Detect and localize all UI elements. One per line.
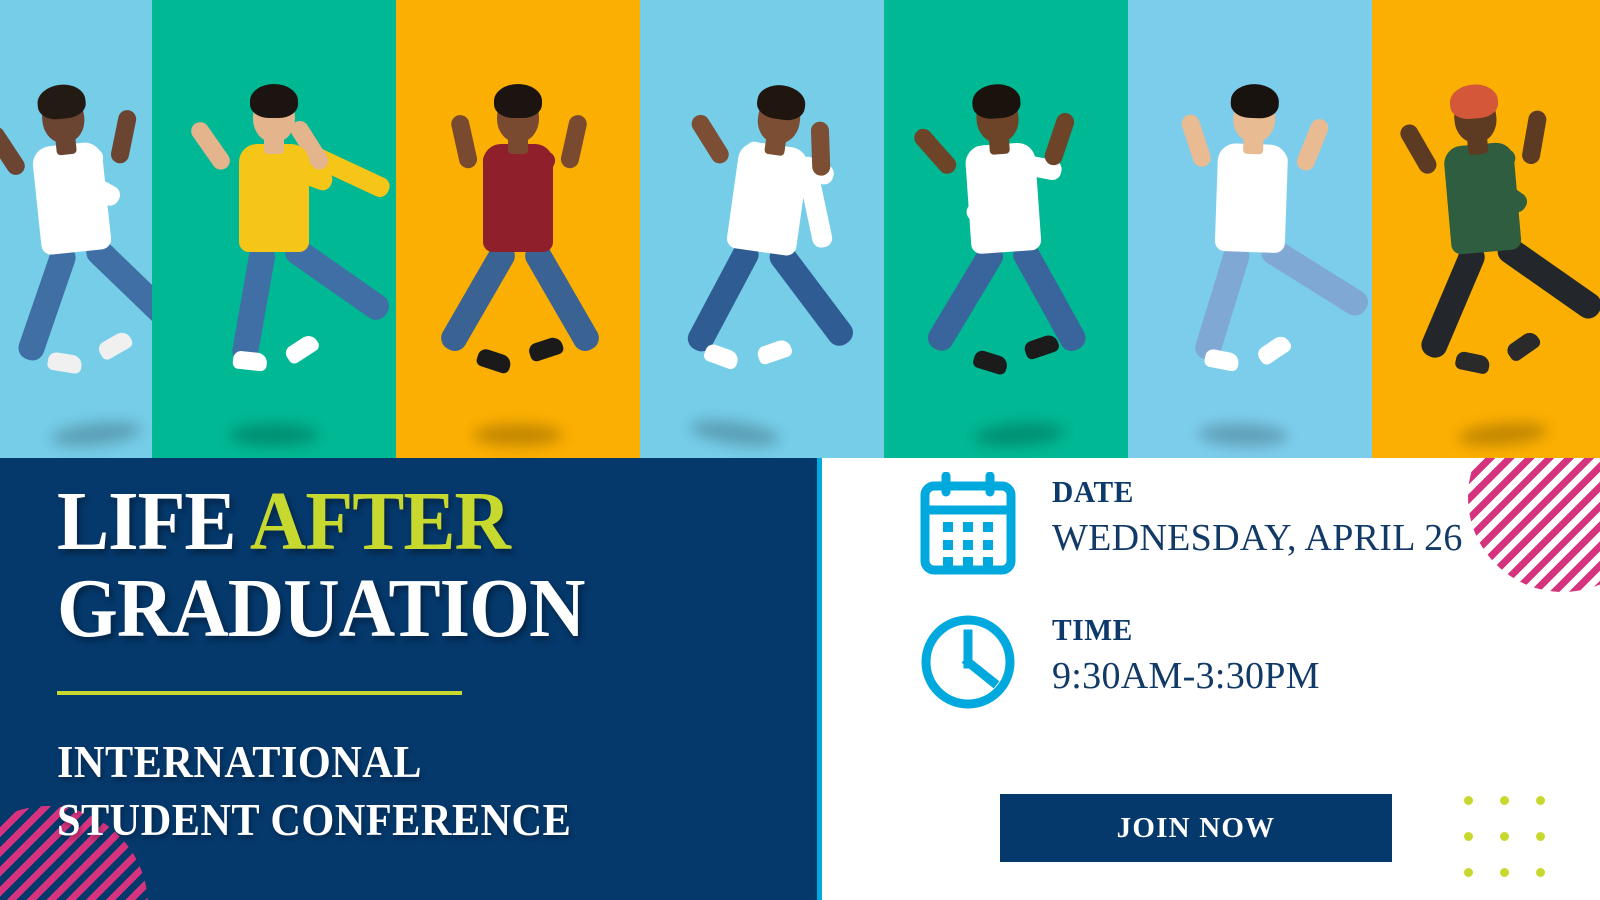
- photo-panel-1: [0, 0, 152, 458]
- headline-panel: LIFE AFTER GRADUATION INTERNATIONAL STUD…: [0, 458, 817, 900]
- decor-dot: [1536, 868, 1545, 877]
- photo-panel-5: [884, 0, 1128, 458]
- date-label: DATE: [1052, 476, 1442, 507]
- striped-circle-decor-top-right: [1468, 458, 1600, 592]
- headline-word-life: LIFE: [57, 475, 236, 568]
- clock-icon: [918, 610, 1018, 719]
- jumping-person-figure: [687, 40, 837, 440]
- decor-dot: [1500, 868, 1509, 877]
- dot-grid-decor: [1464, 796, 1572, 900]
- subtitle-line-1: INTERNATIONAL: [57, 733, 571, 791]
- photo-strip: [0, 0, 1600, 458]
- accent-rule: [57, 691, 462, 695]
- jumping-person-figure: [443, 40, 593, 440]
- jumping-person-figure: [1175, 40, 1325, 440]
- decor-dot: [1464, 796, 1473, 805]
- date-info-row: DATE WEDNESDAY, APRIL 26: [918, 472, 1463, 581]
- headline-block: LIFE AFTER GRADUATION: [57, 482, 797, 649]
- subtitle-line-2: STUDENT CONFERENCE: [57, 791, 571, 849]
- decor-dot: [1536, 796, 1545, 805]
- calendar-icon: [918, 472, 1018, 581]
- join-now-button[interactable]: JOIN NOW: [1000, 794, 1392, 862]
- jumping-person-figure: [199, 40, 349, 440]
- date-text-block: DATE WEDNESDAY, APRIL 26: [1052, 472, 1463, 560]
- jumping-person-figure: [1411, 40, 1561, 440]
- decor-dot: [1464, 832, 1473, 841]
- headline-line-2: GRADUATION: [57, 569, 745, 650]
- date-value: WEDNESDAY, APRIL 26: [1052, 518, 1463, 560]
- decor-dot: [1464, 868, 1473, 877]
- photo-panel-7: [1372, 0, 1600, 458]
- jumping-person-figure: [1, 40, 151, 440]
- decor-dot: [1536, 832, 1545, 841]
- time-info-row: TIME 9:30AM-3:30PM: [918, 610, 1320, 719]
- photo-panel-3: [396, 0, 640, 458]
- decor-dot: [1500, 796, 1509, 805]
- headline-line-1: LIFE AFTER: [57, 482, 745, 563]
- photo-panel-4: [640, 0, 884, 458]
- headline-word-after: AFTER: [250, 475, 510, 568]
- photo-panel-6: [1128, 0, 1372, 458]
- event-poster: LIFE AFTER GRADUATION INTERNATIONAL STUD…: [0, 0, 1600, 900]
- time-value: 9:30AM-3:30PM: [1052, 656, 1320, 698]
- jumping-person-figure: [931, 40, 1081, 440]
- subtitle-block: INTERNATIONAL STUDENT CONFERENCE: [57, 733, 571, 849]
- decor-dot: [1500, 832, 1509, 841]
- time-label: TIME: [1052, 614, 1306, 645]
- time-text-block: TIME 9:30AM-3:30PM: [1052, 610, 1320, 698]
- photo-panel-2: [152, 0, 396, 458]
- details-panel: DATE WEDNESDAY, APRIL 26 TIME 9:30AM-3:3…: [822, 458, 1600, 900]
